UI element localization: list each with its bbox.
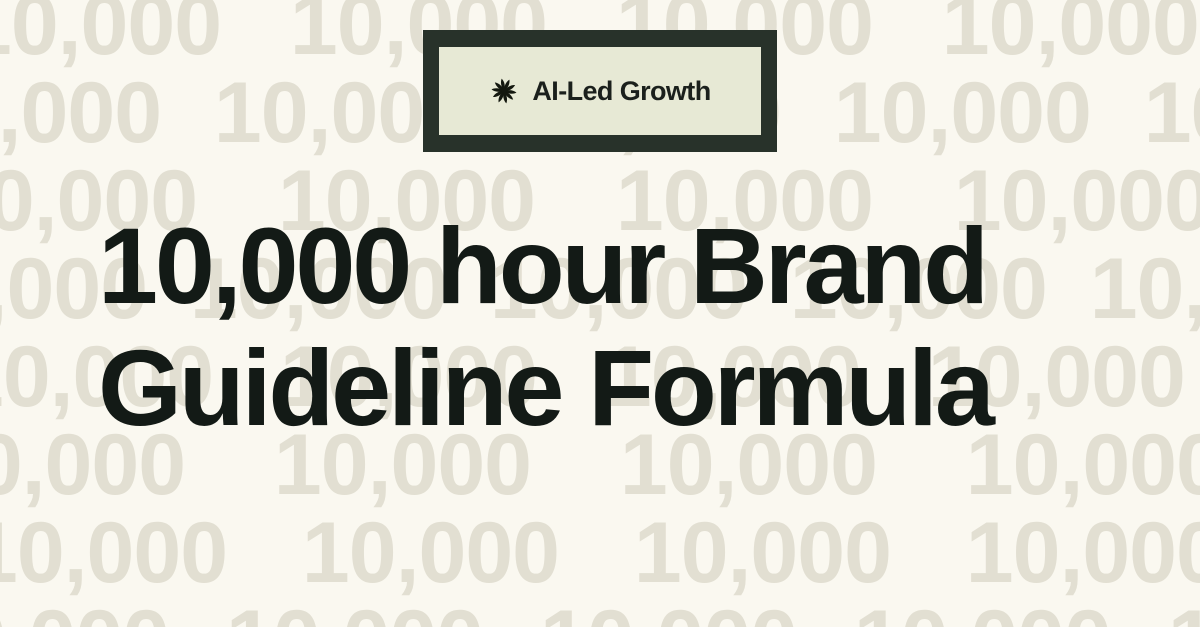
brand-badge: AI-Led Growth <box>423 30 777 152</box>
page-title-line-2: Guideline Formula <box>98 327 1118 449</box>
brand-badge-panel: AI-Led Growth <box>439 47 761 135</box>
watermark-row: 10,000 10,000 10,000 10,000 10,000 10,00… <box>0 510 1200 596</box>
social-card-canvas: 10,000 10,000 10,000 10,000 10,000 10,00… <box>0 0 1200 627</box>
watermark-row: 10,000 10,000 10,000 10,000 10,000 10,00… <box>0 598 1200 627</box>
page-title: 10,000 hour Brand Guideline Formula <box>98 205 1118 449</box>
pinwheel-icon <box>489 76 519 106</box>
page-title-line-1: 10,000 hour Brand <box>98 205 1118 327</box>
brand-badge-label: AI-Led Growth <box>532 76 710 107</box>
